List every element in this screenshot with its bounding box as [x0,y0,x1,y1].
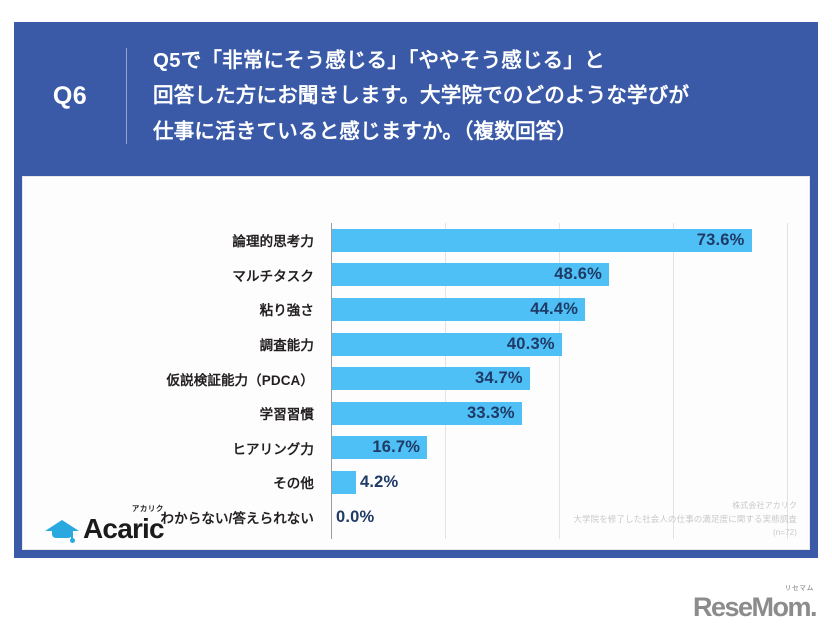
bar-row: 調査能力40.3% [23,327,811,362]
bar-value-label: 16.7% [372,438,420,457]
question-header: Q6 Q5で「非常にそう感じる」「ややそう感じる」と 回答した方にお聞きします。… [14,22,818,170]
bar-value-label: 4.2% [360,473,398,492]
graduation-cap-icon [45,516,79,540]
acaric-wordmark-text: Acaric [83,513,164,544]
bar-value-label: 40.3% [507,335,555,354]
source-survey: 大学院を修了した社会人の仕事の満足度に関する実態調査 [573,512,797,526]
bar-value-label: 73.6% [697,231,745,250]
bar-row: 粘り強さ44.4% [23,292,811,327]
bar-chart: 論理的思考力73.6%マルチタスク48.6%粘り強さ44.4%調査能力40.3%… [23,177,809,549]
bar-row: その他4.2% [23,465,811,500]
acaric-logo: アカリク Acaric [45,509,164,543]
bar-category-label: 粘り強さ [23,299,323,319]
question-number: Q6 [14,82,126,111]
question-line-2: 回答した方にお聞きします。大学院でのどのような学びが [153,78,818,113]
source-note: 株式会社アカリク 大学院を修了した社会人の仕事の満足度に関する実態調査 (n=7… [573,499,797,539]
acaric-wordmark: アカリク Acaric [83,515,164,543]
bar-category-label: 仮説検証能力（PDCA） [23,369,323,389]
resemom-wordmark-text: ReseMom. [693,592,816,622]
bar-wrapper: 73.6% [332,223,752,258]
bar-category-label: その他 [23,472,323,492]
bar-value-label: 0.0% [336,508,374,527]
chart-card: 論理的思考力73.6%マルチタスク48.6%粘り強さ44.4%調査能力40.3%… [22,176,810,550]
source-sample-size: (n=72) [573,526,797,539]
resemom-ruby-text: リセマム [785,586,814,593]
bar-value-label: 44.4% [530,300,578,319]
bar-value-label: 48.6% [554,265,602,284]
bar-wrapper: 16.7% [332,431,427,466]
bar-wrapper: 40.3% [332,327,562,362]
bar-value-label: 33.3% [467,404,515,423]
bar-wrapper: 48.6% [332,258,609,293]
bar-row: 論理的思考力73.6% [23,223,811,258]
bar [332,471,356,494]
acaric-ruby-text: アカリク [132,505,164,513]
bar-category-label: 学習習慣 [23,403,323,423]
bar-row: 学習習慣33.3% [23,396,811,431]
bar-wrapper: 0.0% [332,500,374,535]
bar-wrapper: 34.7% [332,361,530,396]
resemom-logo: リセマム ReseMom. [693,594,816,621]
bar-wrapper: 4.2% [332,465,398,500]
question-line-1: Q5で「非常にそう感じる」「ややそう感じる」と [153,43,818,78]
bar-category-label: 調査能力 [23,334,323,354]
slide-page: Q6 Q5で「非常にそう感じる」「ややそう感じる」と 回答した方にお聞きします。… [0,0,832,629]
bar-row: 仮説検証能力（PDCA）34.7% [23,361,811,396]
bar-wrapper: 33.3% [332,396,522,431]
bar [332,229,752,252]
source-company: 株式会社アカリク [573,499,797,512]
bar-value-label: 34.7% [475,369,523,388]
question-line-3: 仕事に活きていると感じますか。（複数回答） [153,114,818,149]
bar-category-label: マルチタスク [23,265,323,285]
question-text: Q5で「非常にそう感じる」「ややそう感じる」と 回答した方にお聞きします。大学院… [127,43,818,149]
bar-category-label: 論理的思考力 [23,230,323,250]
bar-row: ヒアリング力16.7% [23,431,811,466]
bar-rows: 論理的思考力73.6%マルチタスク48.6%粘り強さ44.4%調査能力40.3%… [23,223,811,534]
bar-wrapper: 44.4% [332,292,585,327]
resemom-wordmark: リセマム ReseMom. [693,594,816,621]
bar-row: マルチタスク48.6% [23,258,811,293]
question-slide: Q6 Q5で「非常にそう感じる」「ややそう感じる」と 回答した方にお聞きします。… [14,22,818,558]
bar-category-label: ヒアリング力 [23,438,323,458]
